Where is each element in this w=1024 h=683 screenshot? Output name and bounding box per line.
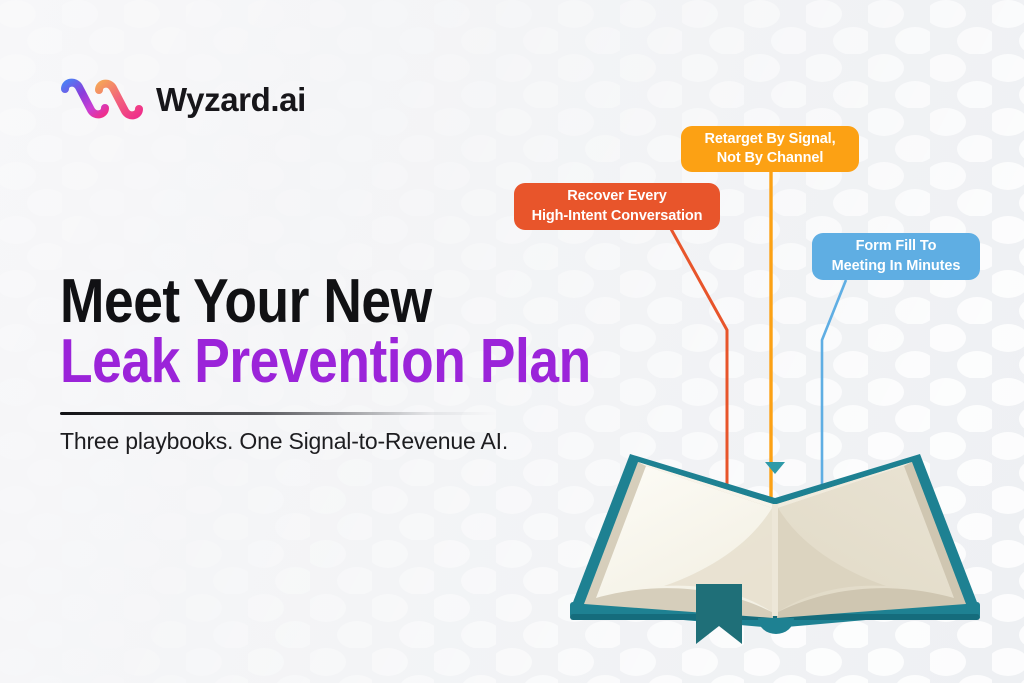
callout-badge-recover[interactable]: Recover Every High-Intent Conversation <box>514 183 720 230</box>
hero-banner: Wyzard.ai Meet Your New Leak Prevention … <box>0 0 1024 683</box>
headline-line-1: Meet Your New <box>60 272 507 332</box>
callout-formfill-line-2: Meeting In Minutes <box>832 257 961 276</box>
callout-recover-line-1: Recover Every <box>567 187 666 206</box>
ribbon-bookmark <box>696 584 742 644</box>
callout-badge-retarget[interactable]: Retarget By Signal, Not By Channel <box>681 126 859 172</box>
headline-block: Meet Your New Leak Prevention Plan <box>60 272 580 392</box>
brand-logo[interactable]: Wyzard.ai <box>60 76 306 122</box>
callout-badge-formfill[interactable]: Form Fill To Meeting In Minutes <box>812 233 980 280</box>
brand-name: Wyzard.ai <box>156 83 306 116</box>
wyzard-wave-w-icon <box>60 76 144 122</box>
open-book-illustration <box>560 432 990 652</box>
callout-retarget-line-2: Not By Channel <box>717 149 824 168</box>
headline-divider <box>60 412 497 415</box>
book-spine-notch <box>758 618 794 634</box>
callout-retarget-line-1: Retarget By Signal, <box>704 130 835 149</box>
book-gutter <box>772 504 778 616</box>
gutter-marker-icon <box>765 462 785 474</box>
callout-formfill-line-1: Form Fill To <box>856 237 937 256</box>
callout-recover-line-2: High-Intent Conversation <box>532 207 703 226</box>
subtitle-text: Three playbooks. One Signal-to-Revenue A… <box>60 428 508 455</box>
headline-line-2: Leak Prevention Plan <box>60 332 507 392</box>
